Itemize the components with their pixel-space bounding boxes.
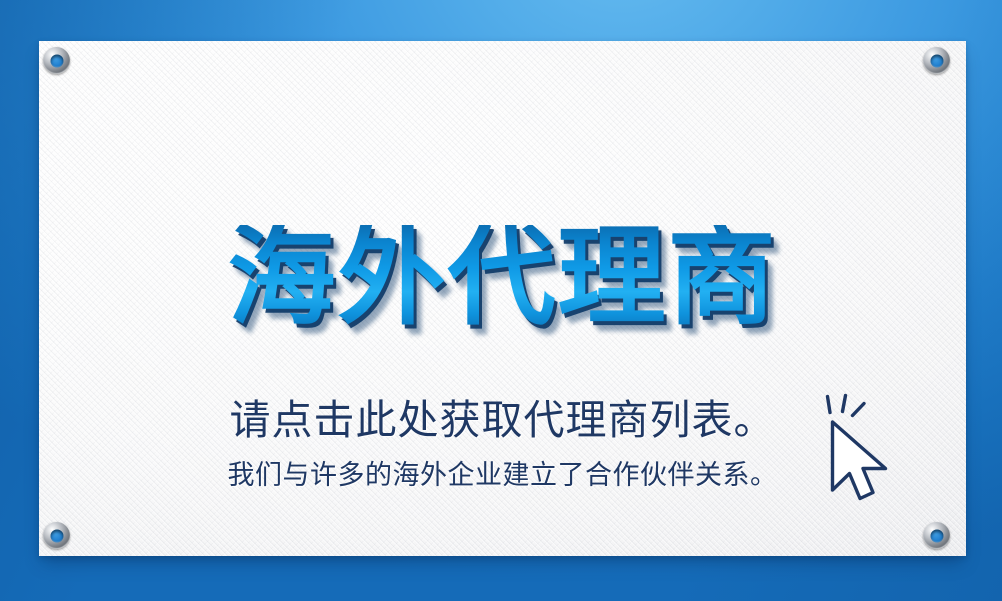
metal-grommet-icon-top-right: [923, 47, 950, 74]
board-content: 海外代理商 请点击此处获取代理商列表。 我们与许多的海外企业建立了合作伙伴关系。: [39, 41, 966, 556]
slide-canvas: 海外代理商 请点击此处获取代理商列表。 我们与许多的海外企业建立了合作伙伴关系。: [0, 0, 1002, 601]
presentation-board: 海外代理商 请点击此处获取代理商列表。 我们与许多的海外企业建立了合作伙伴关系。: [39, 41, 966, 556]
page-title: 海外代理商: [39, 225, 966, 333]
mouse-cursor-click-icon: [819, 393, 905, 505]
metal-grommet-icon-bottom-left: [43, 522, 70, 549]
metal-grommet-icon-bottom-right: [923, 522, 950, 549]
metal-grommet-icon-top-left: [43, 47, 70, 74]
